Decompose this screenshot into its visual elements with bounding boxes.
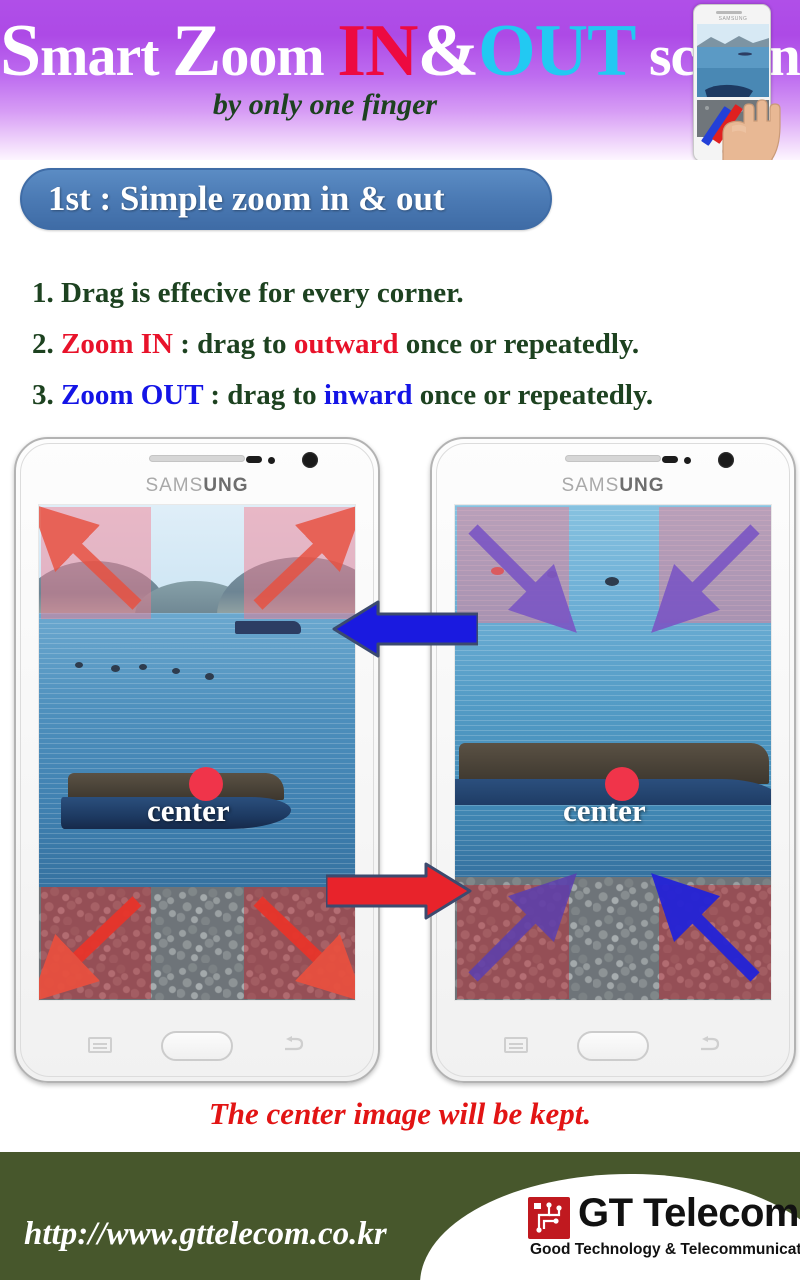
back-button-icon[interactable] bbox=[282, 1036, 306, 1053]
home-button[interactable] bbox=[161, 1031, 233, 1061]
brand-dark: UNG bbox=[619, 475, 664, 496]
gt-telecom-logo: GT Telecom Good Technology & Telecommuni… bbox=[528, 1195, 796, 1267]
phone-screen-left[interactable]: center bbox=[38, 504, 356, 1001]
title-part-zoom-in: IN bbox=[337, 10, 417, 92]
page-title: Smart Zoom IN&OUT screen bbox=[0, 20, 800, 87]
instruction-text: Zoom IN bbox=[54, 328, 173, 360]
instruction-text: : drag to bbox=[173, 328, 294, 360]
instruction-list: 1. Drag is effecive for every corner. 2.… bbox=[32, 268, 800, 421]
header-phone-thumbnail: SAMSUNG bbox=[693, 4, 771, 160]
title-part-zoom-out: OUT bbox=[478, 10, 635, 92]
phone-screen-right[interactable]: center bbox=[454, 504, 772, 1001]
logo-tagline-text: Good Technology & Telecommunication bbox=[530, 1241, 800, 1259]
zoom-out-connector-arrow bbox=[326, 598, 478, 660]
phone-mockup-right: SAMSUNG bbox=[430, 437, 796, 1083]
instruction-text: once or repeatedly. bbox=[399, 328, 640, 360]
page-subtitle: by only one finger bbox=[0, 88, 800, 122]
back-button-icon[interactable] bbox=[698, 1036, 722, 1053]
proximity-sensor-icon bbox=[246, 456, 262, 463]
website-url[interactable]: http://www.gttelecom.co.kr bbox=[24, 1216, 387, 1253]
instruction-number: 3. bbox=[32, 379, 54, 411]
section-header-label: 1st : Simple zoom in & out bbox=[22, 179, 445, 219]
list-item: 3. Zoom OUT : drag to inward once or rep… bbox=[32, 370, 800, 421]
menu-button-icon[interactable] bbox=[88, 1037, 112, 1053]
list-item: 1. Drag is effecive for every corner. bbox=[32, 268, 800, 319]
thumbnail-brand-label: SAMSUNG bbox=[694, 16, 771, 22]
logo-mark-icon bbox=[528, 1197, 570, 1239]
earpiece-speaker bbox=[565, 455, 661, 462]
section-header-pill[interactable]: 1st : Simple zoom in & out bbox=[20, 168, 552, 230]
center-label: center bbox=[563, 793, 646, 829]
instruction-text: once or repeatedly. bbox=[413, 379, 654, 411]
instruction-number: 2. bbox=[32, 328, 54, 360]
instruction-text: Drag is effecive for every corner. bbox=[54, 277, 464, 309]
title-part-ampersand: & bbox=[417, 10, 478, 92]
caption-text: The center image will be kept. bbox=[0, 1096, 800, 1132]
instruction-text: inward bbox=[324, 379, 413, 411]
phone-brand-label: SAMSUNG bbox=[14, 475, 380, 497]
front-camera-icon bbox=[718, 452, 734, 468]
center-label: center bbox=[147, 793, 230, 829]
light-sensor-icon bbox=[268, 457, 275, 464]
inward-drag-arrows bbox=[455, 505, 772, 1001]
proximity-sensor-icon bbox=[662, 456, 678, 463]
instruction-text: : drag to bbox=[203, 379, 324, 411]
light-sensor-icon bbox=[684, 457, 691, 464]
title-part: mart bbox=[40, 23, 172, 88]
circuit-tree-icon bbox=[528, 1197, 570, 1239]
home-button[interactable] bbox=[577, 1031, 649, 1061]
brand-dark: UNG bbox=[203, 475, 248, 496]
header-banner: Smart Zoom IN&OUT screen by only one fin… bbox=[0, 0, 800, 160]
front-camera-icon bbox=[302, 452, 318, 468]
thumbnail-earpiece bbox=[716, 11, 742, 14]
title-part: S bbox=[0, 10, 40, 92]
instruction-text: Zoom OUT bbox=[54, 379, 203, 411]
hand-illustration bbox=[717, 80, 781, 160]
earpiece-speaker bbox=[149, 455, 245, 462]
list-item: 2. Zoom IN : drag to outward once or rep… bbox=[32, 319, 800, 370]
phone-mockup-left: SAMSUNG bbox=[14, 437, 380, 1083]
brand-light: SAMS bbox=[145, 475, 203, 496]
title-part: Z bbox=[172, 10, 220, 92]
logo-name-text: GT Telecom bbox=[578, 1191, 799, 1236]
title-part: oom bbox=[220, 23, 337, 88]
instruction-number: 1. bbox=[32, 277, 54, 309]
outward-drag-arrows bbox=[39, 505, 356, 1001]
instruction-text: outward bbox=[294, 328, 399, 360]
brand-light: SAMS bbox=[561, 475, 619, 496]
menu-button-icon[interactable] bbox=[504, 1037, 528, 1053]
zoom-in-connector-arrow bbox=[326, 860, 478, 922]
phone-brand-label: SAMSUNG bbox=[430, 475, 796, 497]
